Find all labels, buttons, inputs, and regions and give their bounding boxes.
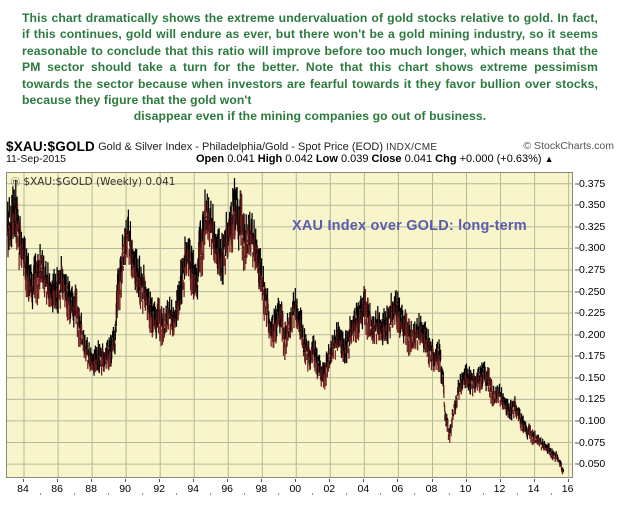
x-minor-tick	[551, 493, 552, 495]
x-axis-label: 84	[17, 483, 29, 495]
y-axis: 0.3750.3500.3250.3000.2750.2500.2250.200…	[575, 172, 620, 478]
y-axis-label: 0.175	[579, 350, 605, 362]
x-tick	[568, 479, 569, 482]
y-axis-label: 0.100	[579, 415, 605, 427]
legend-mark-icon: ⓜ	[11, 178, 20, 188]
chg-label: Chg	[435, 153, 456, 165]
x-axis-label: 14	[528, 483, 540, 495]
x-tick	[329, 479, 330, 482]
x-axis-label: 04	[358, 483, 370, 495]
high-label: High	[258, 153, 282, 165]
y-axis-label: 0.325	[579, 221, 605, 233]
stockcharts-chart: $XAU:$GOLD Gold & Silver Index - Philade…	[0, 138, 620, 531]
x-axis-label: 92	[153, 483, 165, 495]
x-minor-tick	[449, 493, 450, 495]
y-axis-label: 0.275	[579, 264, 605, 276]
open-label: Open	[196, 153, 224, 165]
x-minor-tick	[380, 493, 381, 495]
instrument-description: Gold & Silver Index - Philadelphia/Gold …	[98, 141, 383, 153]
x-axis-label: 88	[85, 483, 97, 495]
close-label: Close	[372, 153, 402, 165]
y-axis-label: 0.375	[579, 178, 605, 190]
ticker-symbol: $XAU:$GOLD	[6, 139, 95, 154]
x-tick	[363, 479, 364, 482]
y-axis-label: 0.250	[579, 286, 605, 298]
plot-wrapper: ⓜ $XAU:$GOLD (Weekly) 0.041 XAU Index ov…	[6, 172, 573, 478]
x-tick	[466, 479, 467, 482]
x-axis-label: 86	[51, 483, 63, 495]
low-value: 0.039	[341, 153, 369, 165]
commentary-last-line: disappear even if the mining companies g…	[22, 108, 598, 124]
x-tick	[432, 479, 433, 482]
chg-up-arrow-icon: ▲	[545, 154, 554, 164]
close-value: 0.041	[405, 153, 433, 165]
x-axis-label: 06	[392, 483, 404, 495]
y-axis-label: 0.225	[579, 307, 605, 319]
x-minor-tick	[346, 493, 347, 495]
commentary-text: This chart dramatically shows the extrem…	[22, 11, 598, 107]
high-value: 0.042	[285, 153, 313, 165]
x-axis-label: 12	[494, 483, 506, 495]
x-tick	[159, 479, 160, 482]
exchange-label: INDX/CME	[386, 142, 437, 153]
x-tick	[125, 479, 126, 482]
x-axis-label: 90	[119, 483, 131, 495]
y-axis-label: 0.125	[579, 393, 605, 405]
x-minor-tick	[244, 493, 245, 495]
low-label: Low	[316, 153, 338, 165]
price-plot-area[interactable]: ⓜ $XAU:$GOLD (Weekly) 0.041 XAU Index ov…	[6, 172, 573, 478]
chg-value: +0.000 (+0.63%)	[460, 153, 542, 165]
x-minor-tick	[483, 493, 484, 495]
x-minor-tick	[414, 493, 415, 495]
x-minor-tick	[74, 493, 75, 495]
x-tick	[261, 479, 262, 482]
x-tick	[295, 479, 296, 482]
x-minor-tick	[312, 493, 313, 495]
open-value: 0.041	[227, 153, 255, 165]
y-axis-label: 0.300	[579, 242, 605, 254]
x-tick	[227, 479, 228, 482]
quote-date: 11-Sep-2015	[6, 153, 66, 165]
x-tick	[57, 479, 58, 482]
x-axis-label: 08	[426, 483, 438, 495]
legend-label: $XAU:$GOLD (Weekly) 0.041	[23, 176, 175, 188]
x-minor-tick	[278, 493, 279, 495]
x-axis-label: 10	[460, 483, 472, 495]
x-axis: 8486889092949698000204060810121416	[6, 479, 573, 503]
y-axis-label: 0.075	[579, 437, 605, 449]
x-axis-label: 96	[221, 483, 233, 495]
stockcharts-attribution: © StockCharts.com	[523, 140, 614, 152]
x-tick	[23, 479, 24, 482]
x-tick	[500, 479, 501, 482]
x-minor-tick	[108, 493, 109, 495]
quote-header: $XAU:$GOLD Gold & Silver Index - Philade…	[0, 138, 620, 170]
chart-title: XAU Index over GOLD: long-term	[292, 218, 527, 234]
x-minor-tick	[40, 493, 41, 495]
y-axis-label: 0.050	[579, 458, 605, 470]
x-minor-tick	[517, 493, 518, 495]
y-axis-label: 0.350	[579, 199, 605, 211]
symbol-line: $XAU:$GOLD Gold & Silver Index - Philade…	[6, 139, 437, 154]
quote-date-value: 11-Sep-2015	[6, 153, 66, 165]
x-minor-tick	[210, 493, 211, 495]
y-axis-label: 0.150	[579, 372, 605, 384]
x-tick	[193, 479, 194, 482]
x-axis-label: 94	[187, 483, 199, 495]
x-minor-tick	[176, 493, 177, 495]
x-axis-label: 00	[289, 483, 301, 495]
x-tick	[91, 479, 92, 482]
x-axis-label: 98	[255, 483, 267, 495]
commentary-block: This chart dramatically shows the extrem…	[0, 0, 620, 129]
ohlc-readout: Open 0.041 High 0.042 Low 0.039 Close 0.…	[196, 153, 554, 165]
x-tick	[397, 479, 398, 482]
series-legend: ⓜ $XAU:$GOLD (Weekly) 0.041	[11, 175, 175, 188]
x-tick	[534, 479, 535, 482]
x-minor-tick	[142, 493, 143, 495]
x-axis-label: 02	[323, 483, 335, 495]
x-axis-label: 16	[562, 483, 574, 495]
y-axis-label: 0.200	[579, 329, 605, 341]
